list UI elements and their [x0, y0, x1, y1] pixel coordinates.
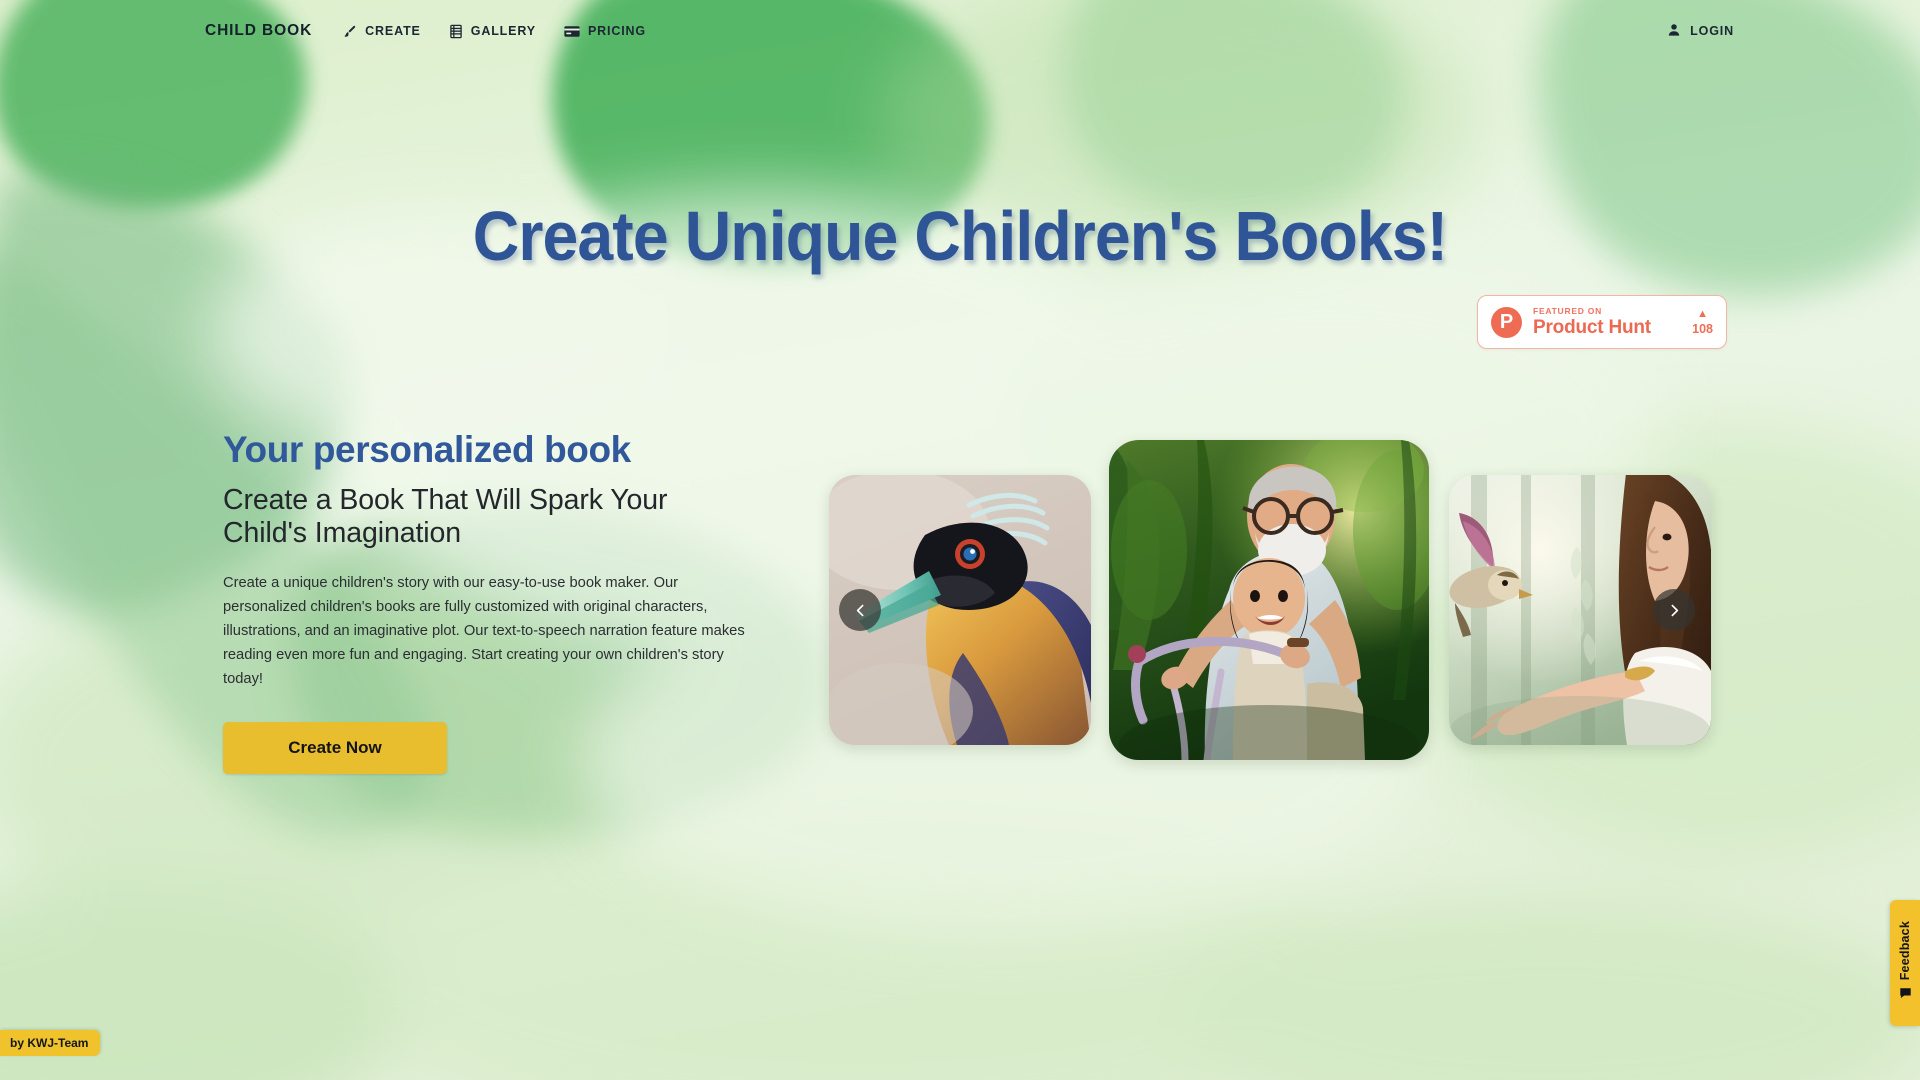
carousel-prev-button[interactable] [839, 589, 881, 631]
carousel-slide-grandfather-bike[interactable] [1109, 440, 1429, 760]
nav-item-pricing-label: PRICING [588, 24, 646, 38]
login-label: LOGIN [1690, 24, 1734, 38]
create-now-button[interactable]: Create Now [223, 722, 447, 774]
product-hunt-badge[interactable]: P FEATURED ON Product Hunt ▲ 108 [1477, 295, 1727, 349]
nav-item-create[interactable]: CREATE [342, 24, 421, 39]
nav-links: CREATE GALLERY [342, 24, 646, 39]
page-title: Create Unique Children's Books! [77, 196, 1843, 276]
chevron-left-icon [852, 602, 869, 619]
section-body-text: Create a unique children's story with ou… [223, 572, 758, 692]
upvote-caret-icon: ▲ [1692, 309, 1713, 320]
chevron-right-icon [1666, 602, 1683, 619]
brush-icon [342, 24, 357, 39]
carousel-next-button[interactable] [1653, 589, 1695, 631]
section-heading: Create a Book That Will Spark Your Child… [223, 484, 723, 551]
nav-item-create-label: CREATE [365, 24, 421, 38]
gallery-icon [449, 24, 463, 39]
feedback-tab[interactable]: Feedback [1890, 900, 1920, 1026]
section-kicker: Your personalized book [223, 430, 783, 471]
nav-item-gallery[interactable]: GALLERY [449, 24, 536, 39]
feedback-label: Feedback [1898, 921, 1912, 980]
kwj-team-credit-badge[interactable]: by KWJ-Team [0, 1030, 100, 1056]
nav-item-gallery-label: GALLERY [471, 24, 536, 38]
product-hunt-vote-count: 108 [1692, 323, 1713, 336]
card-icon [564, 25, 580, 38]
slide-grandfather-bike-image [1109, 440, 1429, 760]
hero-content-column: Your personalized book Create a Book Tha… [223, 430, 783, 774]
brand-logo[interactable]: CHILD BOOK [205, 22, 312, 40]
nav-left-group: CHILD BOOK CREATE [205, 22, 646, 40]
product-hunt-text: FEATURED ON Product Hunt [1533, 307, 1651, 338]
user-icon [1667, 23, 1681, 40]
speech-bubble-icon [1899, 987, 1912, 1005]
product-hunt-logo-icon: P [1491, 307, 1522, 338]
top-navigation-bar: CHILD BOOK CREATE [0, 0, 1920, 62]
product-hunt-featured-label: FEATURED ON [1533, 307, 1651, 316]
product-hunt-name: Product Hunt [1533, 318, 1651, 337]
nav-item-pricing[interactable]: PRICING [564, 24, 646, 38]
product-hunt-votes[interactable]: ▲ 108 [1692, 309, 1713, 336]
nav-right-group: LOGIN [1667, 23, 1734, 40]
image-carousel [820, 440, 1720, 780]
login-button[interactable]: LOGIN [1667, 23, 1734, 40]
